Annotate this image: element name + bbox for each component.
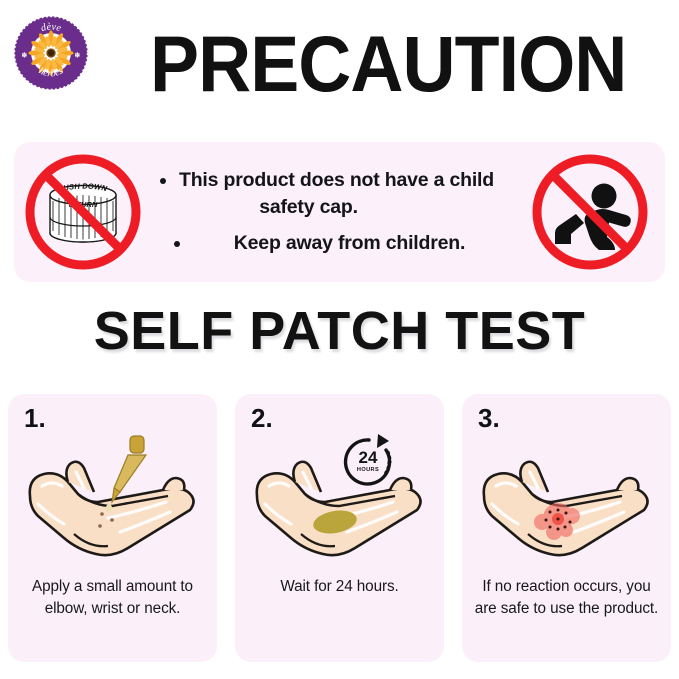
page-header: dève herbes ✽ ✽ PRECAUTION [0, 0, 679, 128]
svg-text:✽: ✽ [21, 51, 27, 60]
precaution-bullet-2-text: Keep away from children. [234, 232, 465, 254]
arm-with-24-hours-clock-icon: 24 HOURS [235, 430, 444, 570]
page-title: PRECAUTION [150, 14, 634, 114]
precaution-bullet-1-cont: safety cap. [150, 194, 523, 221]
precaution-bullet-list: This product does not have a child safet… [144, 167, 529, 257]
precaution-bullet-2: Keep away from children. [150, 230, 523, 257]
section-title: SELF PATCH TEST [0, 300, 679, 362]
no-child-safety-cap-icon: PUSH DOWN & TURN [22, 151, 144, 273]
no-children-icon [529, 151, 651, 273]
step-3-caption: If no reaction occurs, you are safe to u… [470, 576, 663, 620]
patch-test-step-2: 2. [235, 394, 444, 662]
precaution-panel: PUSH DOWN & TURN This product does not h… [14, 142, 665, 282]
svg-text:✽: ✽ [74, 51, 80, 60]
badge-unit: HOURS [357, 467, 379, 473]
badge-number: 24 [359, 448, 378, 467]
arm-with-rash-icon [462, 430, 671, 570]
patch-test-steps: 1. [8, 394, 671, 662]
step-2-caption: Wait for 24 hours. [243, 576, 436, 598]
precaution-bullet-1-text: This product does not have a child [179, 169, 494, 191]
bullet-dot-icon [160, 178, 166, 184]
patch-test-step-1: 1. [8, 394, 217, 662]
patch-test-step-3: 3. [462, 394, 671, 662]
precaution-bullet-1-text-cont: safety cap. [259, 196, 358, 218]
arm-with-dropper-icon [8, 430, 217, 570]
brand-logo: dève herbes ✽ ✽ [12, 14, 90, 92]
bullet-dot-icon [174, 241, 180, 247]
precaution-bullet-1: This product does not have a child [150, 167, 523, 194]
step-1-caption: Apply a small amount to elbow, wrist or … [16, 576, 209, 620]
